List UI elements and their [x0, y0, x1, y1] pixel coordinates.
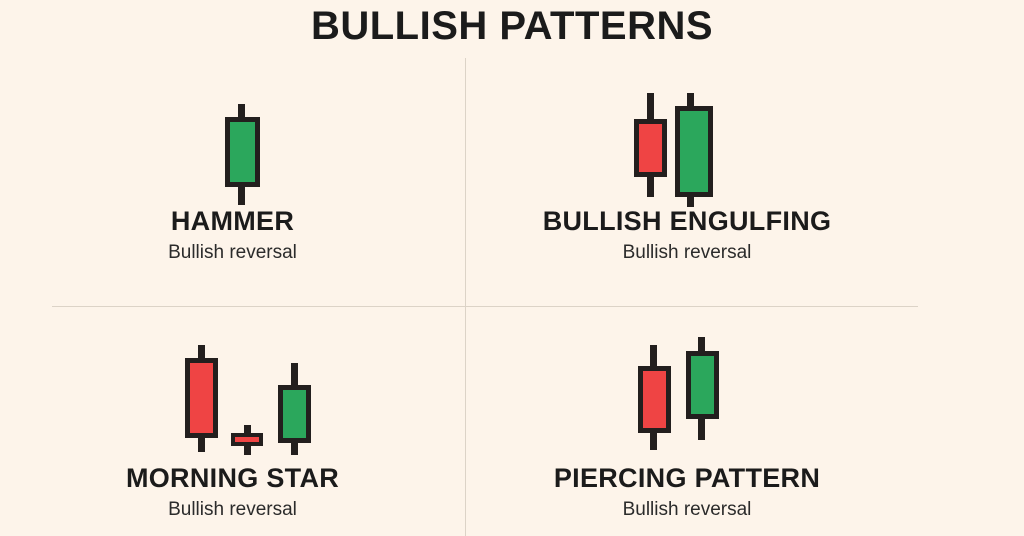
- page-title: BULLISH PATTERNS: [0, 2, 1024, 50]
- piercing-pattern-chart: [466, 307, 1024, 462]
- candle-body: [638, 366, 671, 433]
- bullish-engulfing-labels: BULLISH ENGULFING Bullish reversal: [466, 205, 1024, 266]
- pattern-card-morning-star: MORNING STAR Bullish reversal: [0, 307, 465, 536]
- morning-star-chart: [0, 307, 465, 462]
- candle-body: [634, 119, 667, 177]
- pattern-description: Bullish reversal: [466, 497, 908, 523]
- candle-body: [278, 385, 311, 443]
- hammer-chart: [0, 60, 465, 205]
- pattern-name: BULLISH ENGULFING: [466, 205, 908, 237]
- pattern-description: Bullish reversal: [466, 240, 908, 266]
- morning-star-labels: MORNING STAR Bullish reversal: [0, 462, 465, 523]
- pattern-card-hammer: HAMMER Bullish reversal: [0, 60, 465, 306]
- pattern-name: PIERCING PATTERN: [466, 462, 908, 494]
- candle-body: [185, 358, 218, 438]
- hammer-labels: HAMMER Bullish reversal: [0, 205, 465, 266]
- pattern-name: MORNING STAR: [0, 462, 465, 494]
- piercing-pattern-labels: PIERCING PATTERN Bullish reversal: [466, 462, 1024, 523]
- pattern-description: Bullish reversal: [0, 497, 465, 523]
- bullish-engulfing-chart: [466, 60, 1024, 205]
- candle-body: [675, 106, 713, 197]
- candle-body: [686, 351, 719, 419]
- candle-body: [231, 433, 263, 446]
- pattern-description: Bullish reversal: [0, 240, 465, 266]
- bullish-patterns-infographic: BULLISH PATTERNS HAMMER Bullish reversal: [0, 0, 1024, 536]
- pattern-name: HAMMER: [0, 205, 465, 237]
- pattern-card-piercing-pattern: PIERCING PATTERN Bullish reversal: [466, 307, 1024, 536]
- pattern-card-bullish-engulfing: BULLISH ENGULFING Bullish reversal: [466, 60, 1024, 306]
- candle-body: [225, 117, 260, 187]
